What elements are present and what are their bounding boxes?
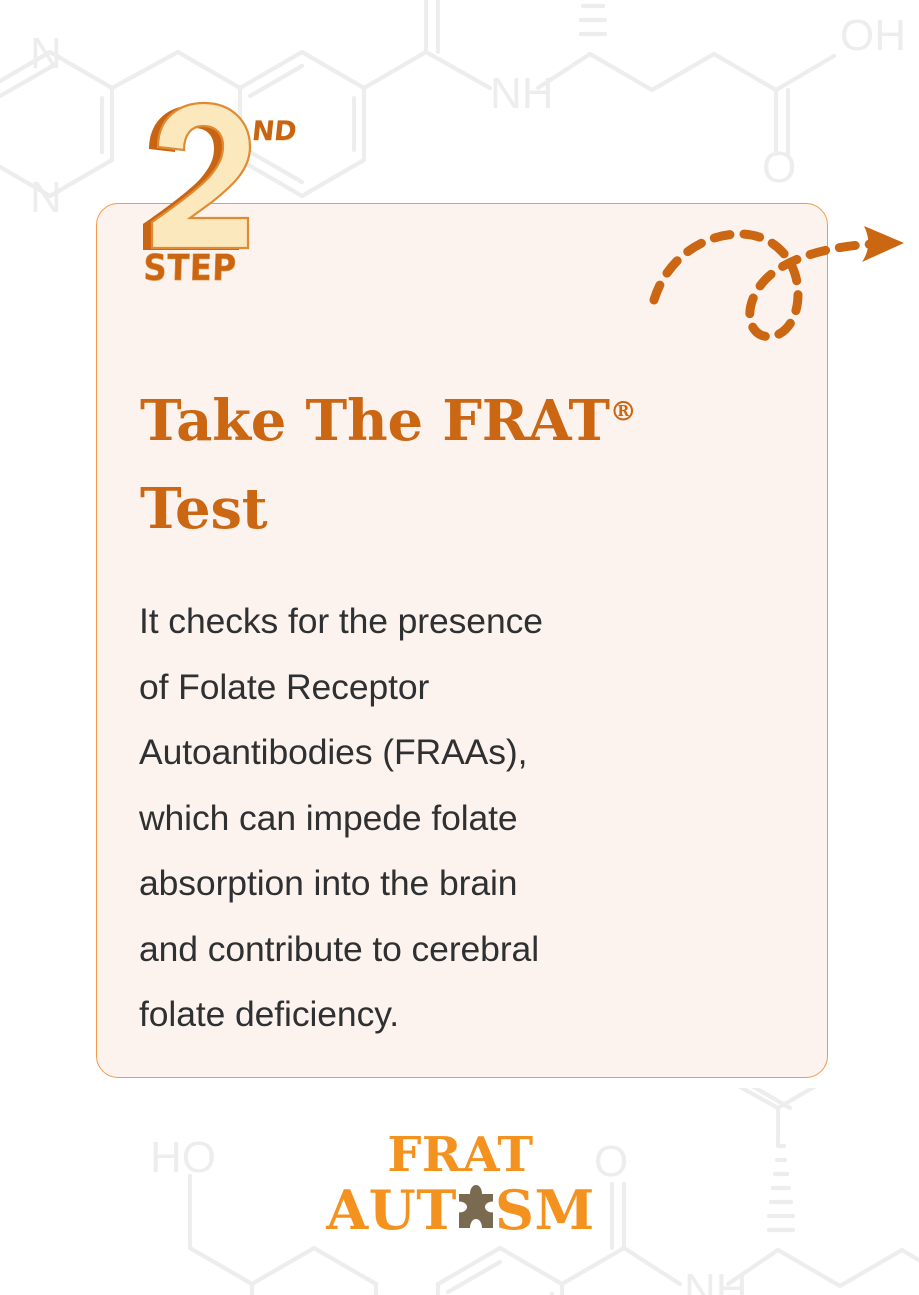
body-line: of Folate Receptor [139,667,429,707]
svg-text:OH: OH [804,1088,870,1092]
body-line: and contribute to cerebral [139,929,539,969]
logo-line-autism: AUT SM [333,1183,588,1237]
svg-text:NH: NH [684,1265,748,1295]
svg-text:HO: HO [150,1133,216,1182]
svg-text:N: N [30,173,62,222]
poster-canvas: N N NH O OH O [0,0,919,1295]
svg-text:O: O [594,1137,628,1186]
puzzle-piece-icon [456,1184,496,1230]
step-ordinal-suffix: ND [250,116,297,147]
svg-text:NH: NH [490,69,554,118]
body-line: It checks for the presence [139,601,543,641]
logo-line-frat: FRAT [333,1131,588,1179]
body-line: Autoantibodies (FRAAs), [139,732,527,772]
body-line: which can impede folate [139,798,518,838]
page-title-line1: Take The FRAT [140,388,610,454]
logo-autism-prefix: AUT [326,1183,457,1237]
brand-logo: FRAT AUT SM [333,1131,588,1236]
svg-text:N: N [30,29,62,78]
body-line: folate deficiency. [139,994,399,1034]
svg-text:OH: OH [840,11,906,60]
page-title-line2: Test [140,476,267,542]
registered-trademark-symbol: ® [610,396,637,427]
svg-text:O: O [694,1088,728,1094]
logo-autism-suffix: SM [495,1183,595,1237]
body-line: absorption into the brain [139,863,517,903]
card-body-text: It checks for the presence of Folate Rec… [139,589,759,1048]
page-title: Take The FRAT® Test [140,377,700,554]
svg-text:O: O [762,143,796,192]
